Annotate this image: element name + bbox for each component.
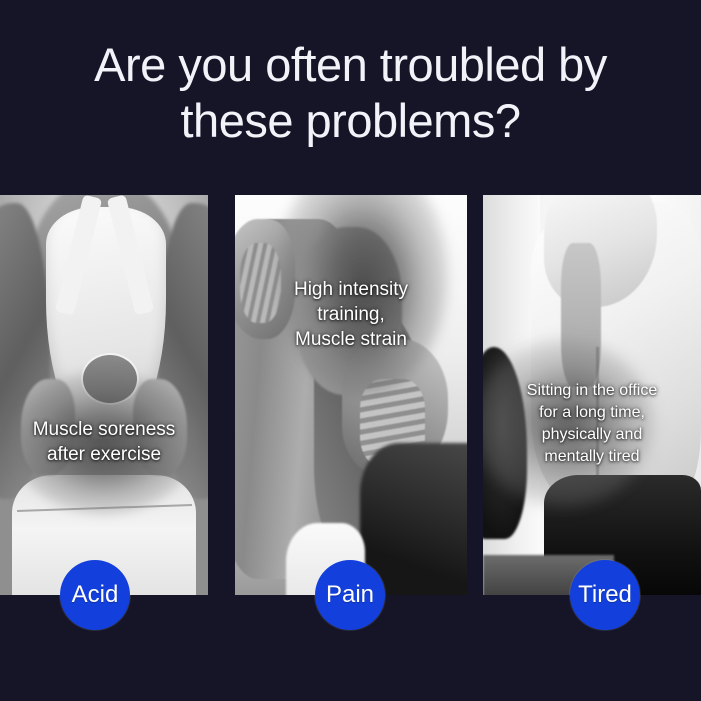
problem-panels-row: Muscle soreness after exercise High inte… bbox=[0, 195, 701, 595]
bra-cutout bbox=[83, 355, 137, 403]
photo-office-fatigue bbox=[483, 195, 701, 595]
badge-pain[interactable]: Pain bbox=[315, 560, 385, 630]
spine-line bbox=[596, 347, 599, 483]
left-hand-shape bbox=[21, 379, 75, 475]
header-banner: Are you often troubled by these problems… bbox=[0, 0, 701, 185]
badge-tired[interactable]: Tired bbox=[570, 560, 640, 630]
badge-acid[interactable]: Acid bbox=[60, 560, 130, 630]
photo-muscle-soreness bbox=[0, 195, 208, 595]
right-hand-shape bbox=[133, 379, 187, 475]
neck-shape bbox=[561, 243, 600, 387]
upper-fingers-shape bbox=[240, 243, 282, 323]
page-title: Are you often troubled by these problems… bbox=[21, 37, 681, 149]
problem-panel-pain[interactable]: High intensity training, Muscle strain bbox=[235, 195, 467, 595]
problem-panel-acid[interactable]: Muscle soreness after exercise bbox=[0, 195, 208, 595]
photo-muscle-strain bbox=[235, 195, 467, 595]
problem-panel-tired[interactable]: Sitting in the office for a long time, p… bbox=[483, 195, 701, 595]
